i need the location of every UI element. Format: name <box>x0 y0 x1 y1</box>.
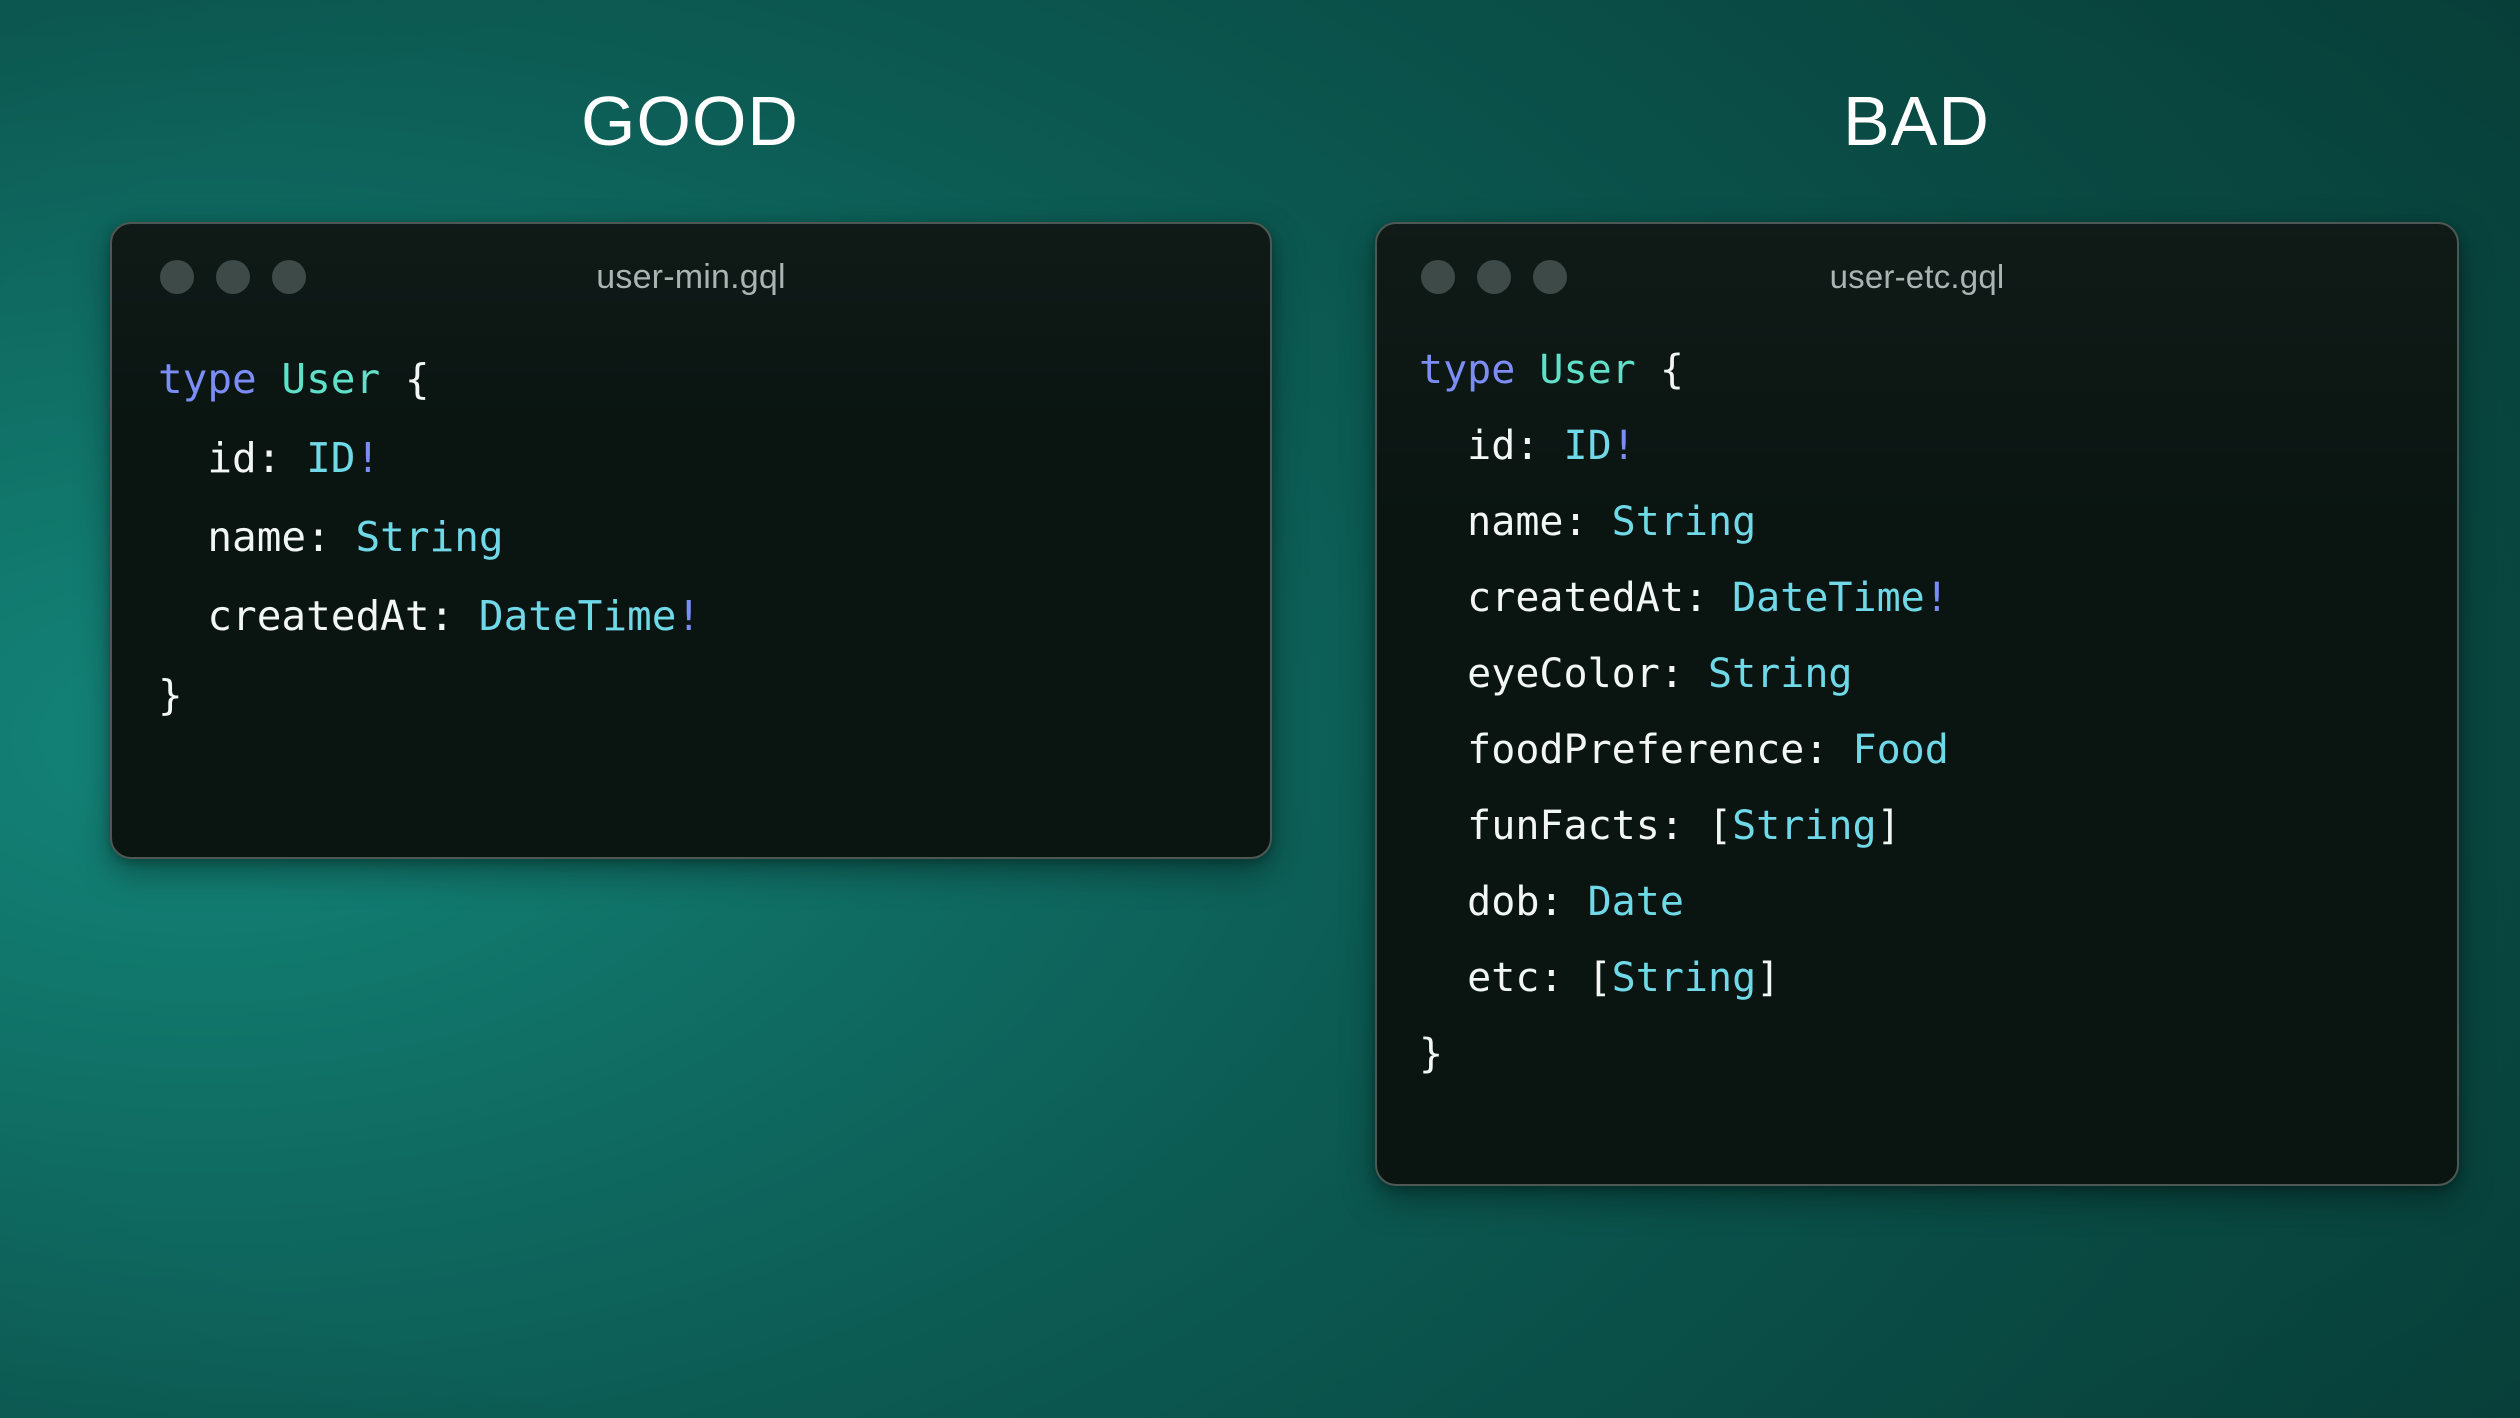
code-line: funFacts: [String] <box>1419 788 2457 864</box>
window-dot-close-icon[interactable] <box>1421 260 1455 294</box>
code-token-field: name: <box>1419 499 1612 545</box>
code-token-field: createdAt: <box>158 592 479 640</box>
code-line: createdAt: DateTime! <box>158 577 1270 656</box>
code-window-bad: user-etc.gql type User { id: ID! name: S… <box>1375 222 2459 1186</box>
code-token-type: ID <box>306 434 355 482</box>
window-dot-maximize-icon[interactable] <box>1533 260 1567 294</box>
code-token-type: DateTime <box>479 592 676 640</box>
code-line: } <box>1419 1016 2457 1092</box>
code-token-field: funFacts: <box>1419 803 1708 849</box>
code-token-type: DateTime <box>1732 575 1925 621</box>
code-token-field: createdAt: <box>1419 575 1732 621</box>
code-token-typename: User <box>281 355 404 403</box>
code-token-field: foodPreference: <box>1419 727 1852 773</box>
code-line: eyeColor: String <box>1419 636 2457 712</box>
code-line: id: ID! <box>1419 408 2457 484</box>
code-line: id: ID! <box>158 419 1270 498</box>
code-token-punct: [ <box>1708 803 1732 849</box>
code-token-punct: { <box>1660 347 1684 393</box>
code-token-type: String <box>1708 651 1853 697</box>
comparison-stage: GOOD user-min.gql type User { id: ID! na… <box>0 0 2520 1418</box>
code-token-type: Date <box>1588 879 1684 925</box>
window-dot-close-icon[interactable] <box>160 260 194 294</box>
code-line: name: String <box>1419 484 2457 560</box>
code-token-field: etc: <box>1419 955 1588 1001</box>
code-block-bad: type User { id: ID! name: String created… <box>1377 330 2457 1092</box>
code-token-field: id: <box>1419 423 1564 469</box>
code-token-keyword: type <box>1419 347 1539 393</box>
code-token-type: String <box>1732 803 1877 849</box>
code-token-type: String <box>1612 499 1757 545</box>
code-token-punct: [ <box>1588 955 1612 1001</box>
code-token-field: name: <box>158 513 355 561</box>
code-line: type User { <box>1419 332 2457 408</box>
title-bar-bad: user-etc.gql <box>1377 224 2457 330</box>
code-line: name: String <box>158 498 1270 577</box>
code-line: foodPreference: Food <box>1419 712 2457 788</box>
code-token-type: String <box>355 513 503 561</box>
window-dot-minimize-icon[interactable] <box>1477 260 1511 294</box>
code-block-good: type User { id: ID! name: String created… <box>112 330 1270 735</box>
code-token-type: ID <box>1564 423 1612 469</box>
code-token-bang: ! <box>676 592 701 640</box>
code-line: dob: Date <box>1419 864 2457 940</box>
code-line: type User { <box>158 340 1270 419</box>
code-line: } <box>158 656 1270 735</box>
column-heading-bad: BAD <box>1375 86 2458 156</box>
code-token-bang: ! <box>355 434 380 482</box>
code-token-punct: } <box>158 671 183 719</box>
code-token-punct: ] <box>1877 803 1901 849</box>
code-token-bang: ! <box>1925 575 1949 621</box>
code-line: etc: [String] <box>1419 940 2457 1016</box>
code-token-punct: { <box>405 355 430 403</box>
code-token-type: Food <box>1852 727 1948 773</box>
code-token-typename: User <box>1539 347 1659 393</box>
code-token-bang: ! <box>1612 423 1636 469</box>
code-token-punct: ] <box>1756 955 1780 1001</box>
code-token-keyword: type <box>158 355 281 403</box>
code-token-field: eyeColor: <box>1419 651 1708 697</box>
code-token-field: id: <box>158 434 306 482</box>
code-token-field: dob: <box>1419 879 1588 925</box>
window-dots-bad <box>1421 260 1567 294</box>
code-window-good: user-min.gql type User { id: ID! name: S… <box>110 222 1272 859</box>
code-token-type: String <box>1612 955 1757 1001</box>
code-token-punct: } <box>1419 1031 1443 1077</box>
title-bar-good: user-min.gql <box>112 224 1270 330</box>
window-dots-good <box>160 260 306 294</box>
window-dot-minimize-icon[interactable] <box>216 260 250 294</box>
window-dot-maximize-icon[interactable] <box>272 260 306 294</box>
column-heading-good: GOOD <box>110 86 1270 156</box>
code-line: createdAt: DateTime! <box>1419 560 2457 636</box>
